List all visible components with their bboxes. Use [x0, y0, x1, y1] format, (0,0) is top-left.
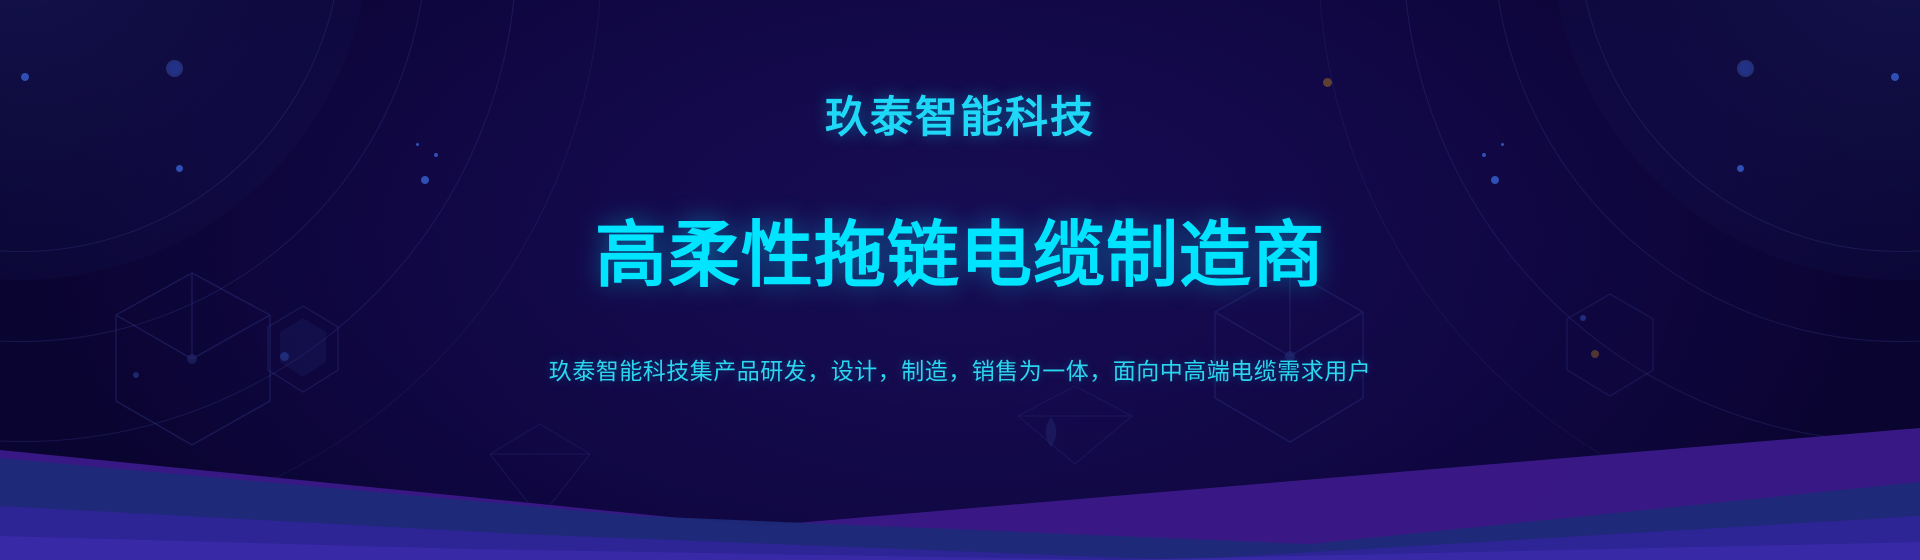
- hero-content: 玖泰智能科技 高柔性拖链电缆制造商 玖泰智能科技集产品研发，设计，制造，销售为一…: [0, 0, 1920, 560]
- brand-title: 玖泰智能科技: [0, 97, 1920, 140]
- hero-banner: 玖泰智能科技 高柔性拖链电缆制造商 玖泰智能科技集产品研发，设计，制造，销售为一…: [0, 0, 1920, 560]
- tagline: 玖泰智能科技集产品研发，设计，制造，销售为一体，面向中高端电缆需求用户: [0, 357, 1920, 387]
- main-heading: 高柔性拖链电缆制造商: [0, 220, 1920, 292]
